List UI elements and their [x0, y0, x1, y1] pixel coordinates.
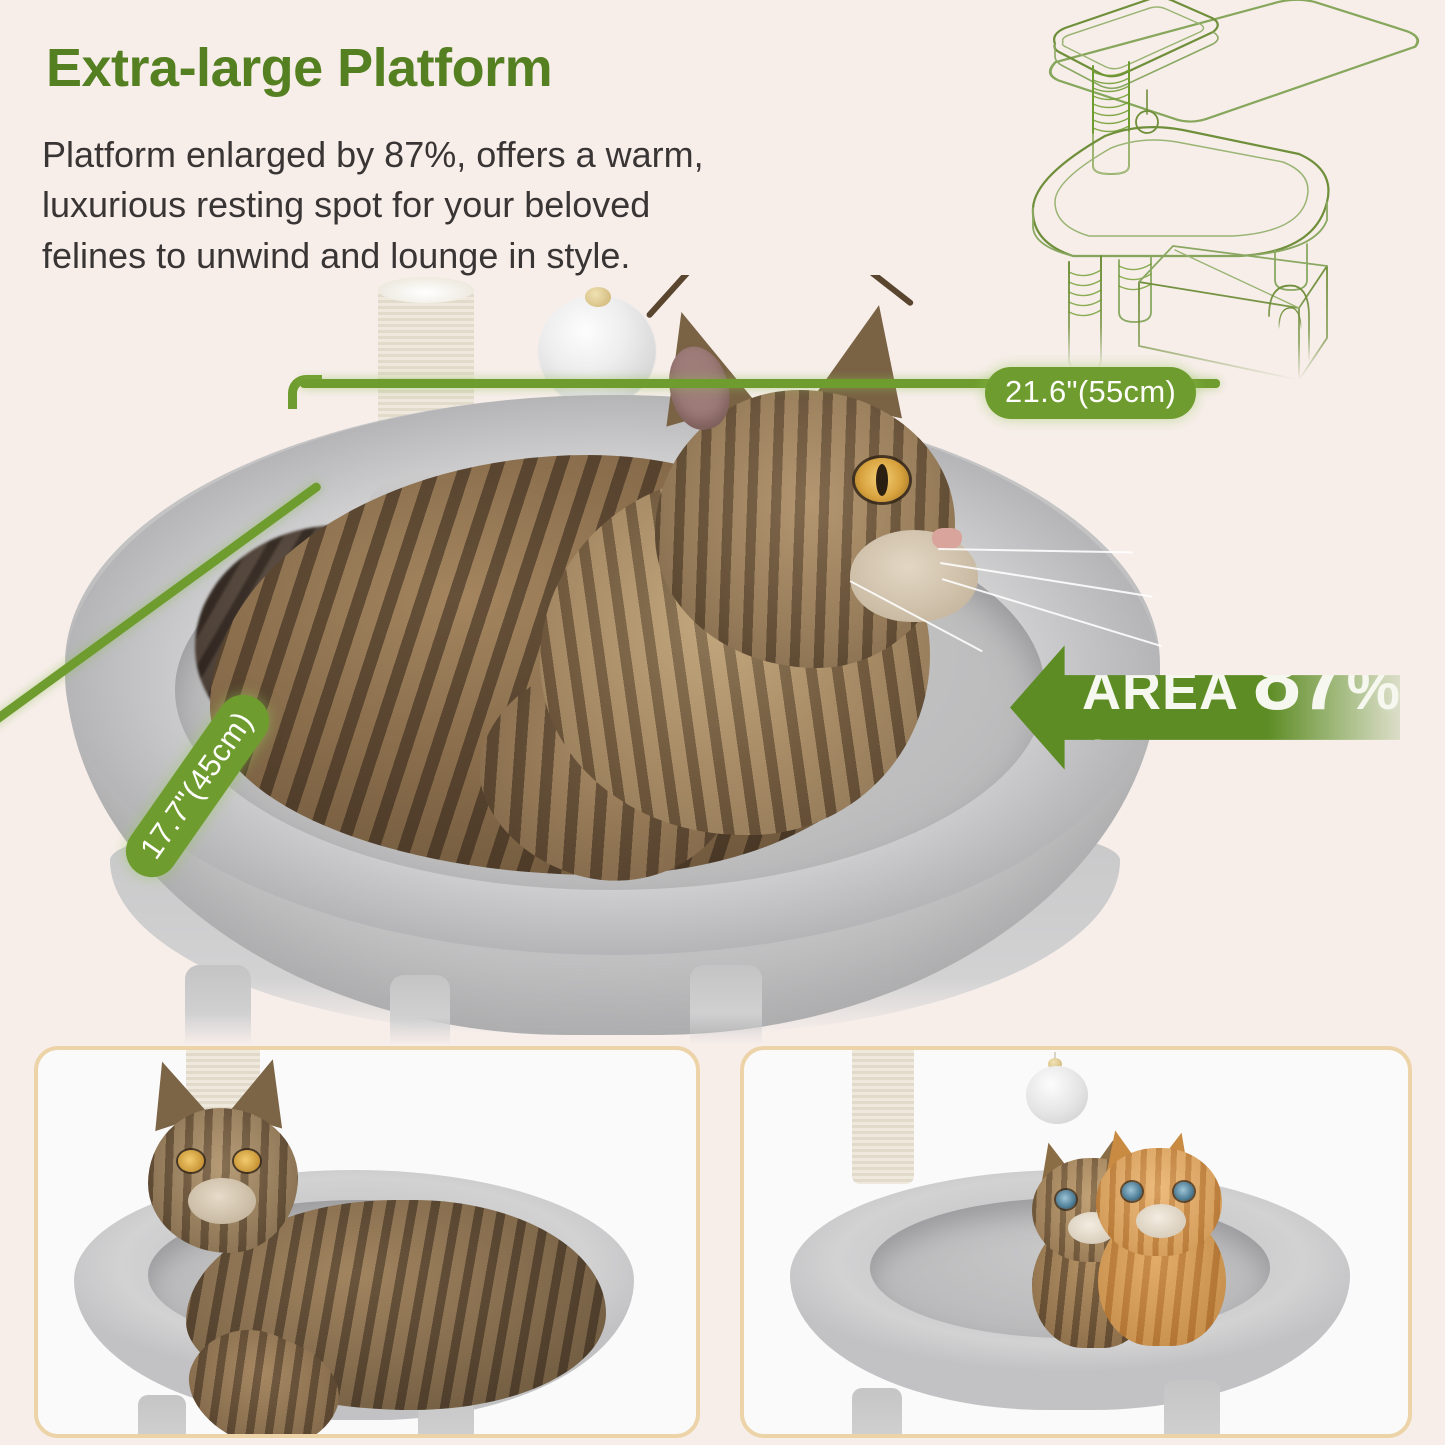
support-leg	[138, 1395, 186, 1438]
top-perch-outline	[1050, 0, 1417, 122]
support-leg	[390, 975, 450, 1045]
large-platform-outline	[1033, 127, 1329, 256]
kitten-muzzle	[1136, 1204, 1186, 1238]
support-leg	[1164, 1380, 1220, 1438]
support-leg	[852, 1388, 902, 1438]
thumbnail-panel-kittens	[740, 1046, 1412, 1438]
marketing-banner: Extra-large Platform Platform enlarged b…	[0, 0, 1445, 1445]
support-leg	[185, 965, 251, 1045]
kitten-eye	[1174, 1182, 1194, 1201]
description-line-3: felines to unwind and lounge in style.	[42, 231, 942, 281]
cat-nose	[932, 528, 962, 550]
kitten-head	[1096, 1148, 1222, 1256]
sisal-post	[852, 1046, 914, 1184]
kitten-eye	[1122, 1182, 1142, 1201]
thumbnail-panel-maine-coon	[34, 1046, 700, 1438]
cat-head	[655, 390, 955, 668]
page-title: Extra-large Platform	[46, 40, 946, 97]
pompom-ball	[1026, 1066, 1088, 1124]
hero-cat	[150, 280, 1020, 920]
cat-muzzle	[188, 1178, 256, 1224]
description-line-2: luxurious resting spot for your beloved	[42, 180, 942, 230]
cat-eye	[234, 1150, 260, 1172]
support-leg	[690, 965, 762, 1045]
description-line-1: Platform enlarged by 87%, offers a warm,	[42, 130, 942, 180]
kitten-eye	[1056, 1190, 1076, 1209]
hero-product-photo	[0, 275, 1445, 1045]
cat-eye	[178, 1150, 204, 1172]
sisal-post-upper	[1093, 62, 1129, 174]
description-text: Platform enlarged by 87%, offers a warm,…	[42, 130, 942, 281]
cat-pupil	[876, 464, 888, 496]
